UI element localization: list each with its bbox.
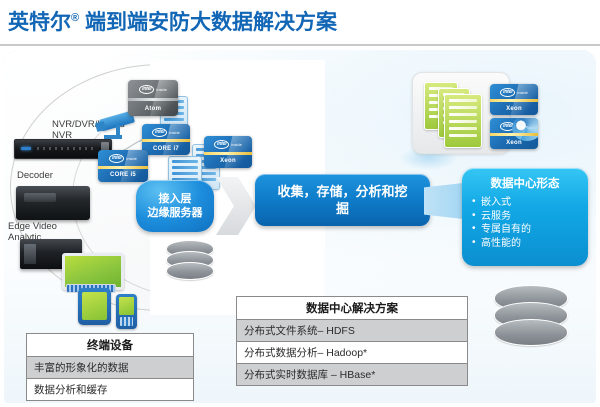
badge-model: CORE i5 <box>98 169 148 182</box>
badge-stripe <box>128 98 178 101</box>
intel-logo-icon: intel <box>109 154 124 163</box>
page-title-brand: 英特尔 <box>8 11 71 34</box>
badge-inside-text: inside <box>231 142 241 147</box>
smartphone-screen-icon <box>119 297 134 315</box>
intel-logo-icon: intel <box>500 88 515 97</box>
db-disk-icon <box>494 319 568 346</box>
list-item: 云服务 <box>471 210 579 224</box>
badge-inside-text: inside <box>517 90 527 95</box>
table-cell: 丰富的形象化的数据 <box>27 357 194 379</box>
badge-model: CORE i7 <box>142 142 190 155</box>
access-layer-line2: 边缘服务器 <box>148 207 203 219</box>
table-row: 分布式文件系统– HDFS <box>237 320 468 342</box>
table-row: 数据分析和缓存 <box>27 379 194 401</box>
intel-core-i5-badge: intel inside CORE i5 <box>98 150 148 182</box>
badge-top: intel inside <box>142 124 190 139</box>
intel-xeon-badge-datacenter-1: intel inside Xeon <box>490 84 538 115</box>
list-item: 高性能的 <box>471 237 579 251</box>
badge-inside-text: inside <box>169 130 179 135</box>
access-layer-node: 接入层 边缘服务器 <box>136 180 214 232</box>
page-title: 英特尔® 端到端安防大数据解决方案 <box>8 6 337 36</box>
central-process-box: 收集，存储，分析和挖 掘 <box>255 174 430 226</box>
dc-solution-table-header: 数据中心解决方案 <box>237 297 468 320</box>
green-server-rack-icon-front <box>444 94 482 148</box>
table-cell: 分布式实时数据库 – HBase* <box>237 364 468 386</box>
badge-top: intel inside <box>98 150 148 166</box>
badge-model: Xeon <box>490 102 538 115</box>
badge-swirl-icon <box>512 118 538 141</box>
intel-logo-icon: intel <box>214 140 229 149</box>
edge-database-icon <box>166 240 212 282</box>
badge-top: intel inside <box>128 80 178 98</box>
page-title-rest: 端到端安防大数据解决方案 <box>85 11 337 34</box>
table-row: 丰富的形象化的数据 <box>27 357 194 379</box>
tablet-screen-icon <box>82 292 107 320</box>
nvr-slots-icon <box>37 147 97 150</box>
data-center-form-list: 嵌入式 云服务 专属自有的 高性能的 <box>471 196 579 250</box>
badge-model: Atom <box>128 101 178 116</box>
badge-stripe <box>98 166 148 169</box>
list-item: 嵌入式 <box>471 196 579 210</box>
central-process-label: 收集，存储，分析和挖 掘 <box>277 183 407 217</box>
decoder-device-icon <box>16 186 90 220</box>
monitor-icon <box>62 253 118 293</box>
badge-stripe <box>490 133 538 136</box>
table-cell: 分布式文件系统– HDFS <box>237 320 468 342</box>
smartphone-icon <box>116 294 137 329</box>
badge-model: Xeon <box>204 155 252 168</box>
intel-xeon-badge-edge: intel inside Xeon <box>204 136 252 168</box>
data-center-form-title: 数据中心形态 <box>471 175 579 191</box>
intel-core-i7-badge: intel inside CORE i7 <box>142 124 190 155</box>
data-center-form-box: 数据中心形态 嵌入式 云服务 专属自有的 高性能的 <box>462 168 588 266</box>
badge-top: intel inside <box>490 84 538 99</box>
access-layer-label: 接入层 边缘服务器 <box>148 192 203 220</box>
security-camera-icon <box>96 113 138 143</box>
intel-atom-badge: intel inside Atom <box>128 80 178 116</box>
badge-stripe <box>490 99 538 102</box>
central-process-line1: 收集，存储，分析和挖 <box>277 184 407 199</box>
title-divider <box>0 44 600 46</box>
table-row: 分布式数据分析– Hadoop* <box>237 342 468 364</box>
tablet-icon <box>78 288 111 325</box>
table-cell: 分布式数据分析– Hadoop* <box>237 342 468 364</box>
terminal-devices-table: 终端设备 丰富的形象化的数据 数据分析和缓存 <box>26 333 194 401</box>
data-center-database-icon <box>494 285 566 351</box>
data-center-solution-table: 数据中心解决方案 分布式文件系统– HDFS 分布式数据分析– Hadoop* … <box>236 296 468 386</box>
badge-inside-text: inside <box>156 87 166 92</box>
table-row: 数据中心解决方案 <box>237 297 468 320</box>
badge-stripe <box>142 139 190 142</box>
intel-logo-icon: intel <box>152 128 167 137</box>
db-disk-icon <box>166 262 214 280</box>
intel-logo-icon: intel <box>139 85 154 94</box>
label-decoder: Decoder <box>17 170 53 181</box>
registered-mark-icon: ® <box>71 12 79 24</box>
nvr-led-icon <box>21 147 31 150</box>
badge-stripe <box>204 152 252 155</box>
camera-arm-icon <box>104 135 122 139</box>
smartphone-keypad-icon <box>120 317 133 326</box>
list-item: 专属自有的 <box>471 223 579 237</box>
central-process-line2: 掘 <box>336 201 349 216</box>
badge-inside-text: inside <box>126 156 136 161</box>
table-row: 终端设备 <box>27 334 194 357</box>
intel-xeon-badge-datacenter-2: intel inside Xeon <box>490 118 538 149</box>
slide-canvas: 英特尔® 端到端安防大数据解决方案 NVR/DVR/Hybrid NVR Dec… <box>0 0 600 407</box>
access-layer-line1: 接入层 <box>159 193 192 205</box>
badge-inside-text: inside <box>517 124 527 129</box>
terminal-table-header: 终端设备 <box>27 334 194 357</box>
table-row: 分布式实时数据库 – HBase* <box>237 364 468 386</box>
badge-top: intel inside <box>204 136 252 152</box>
table-cell: 数据分析和缓存 <box>27 379 194 401</box>
